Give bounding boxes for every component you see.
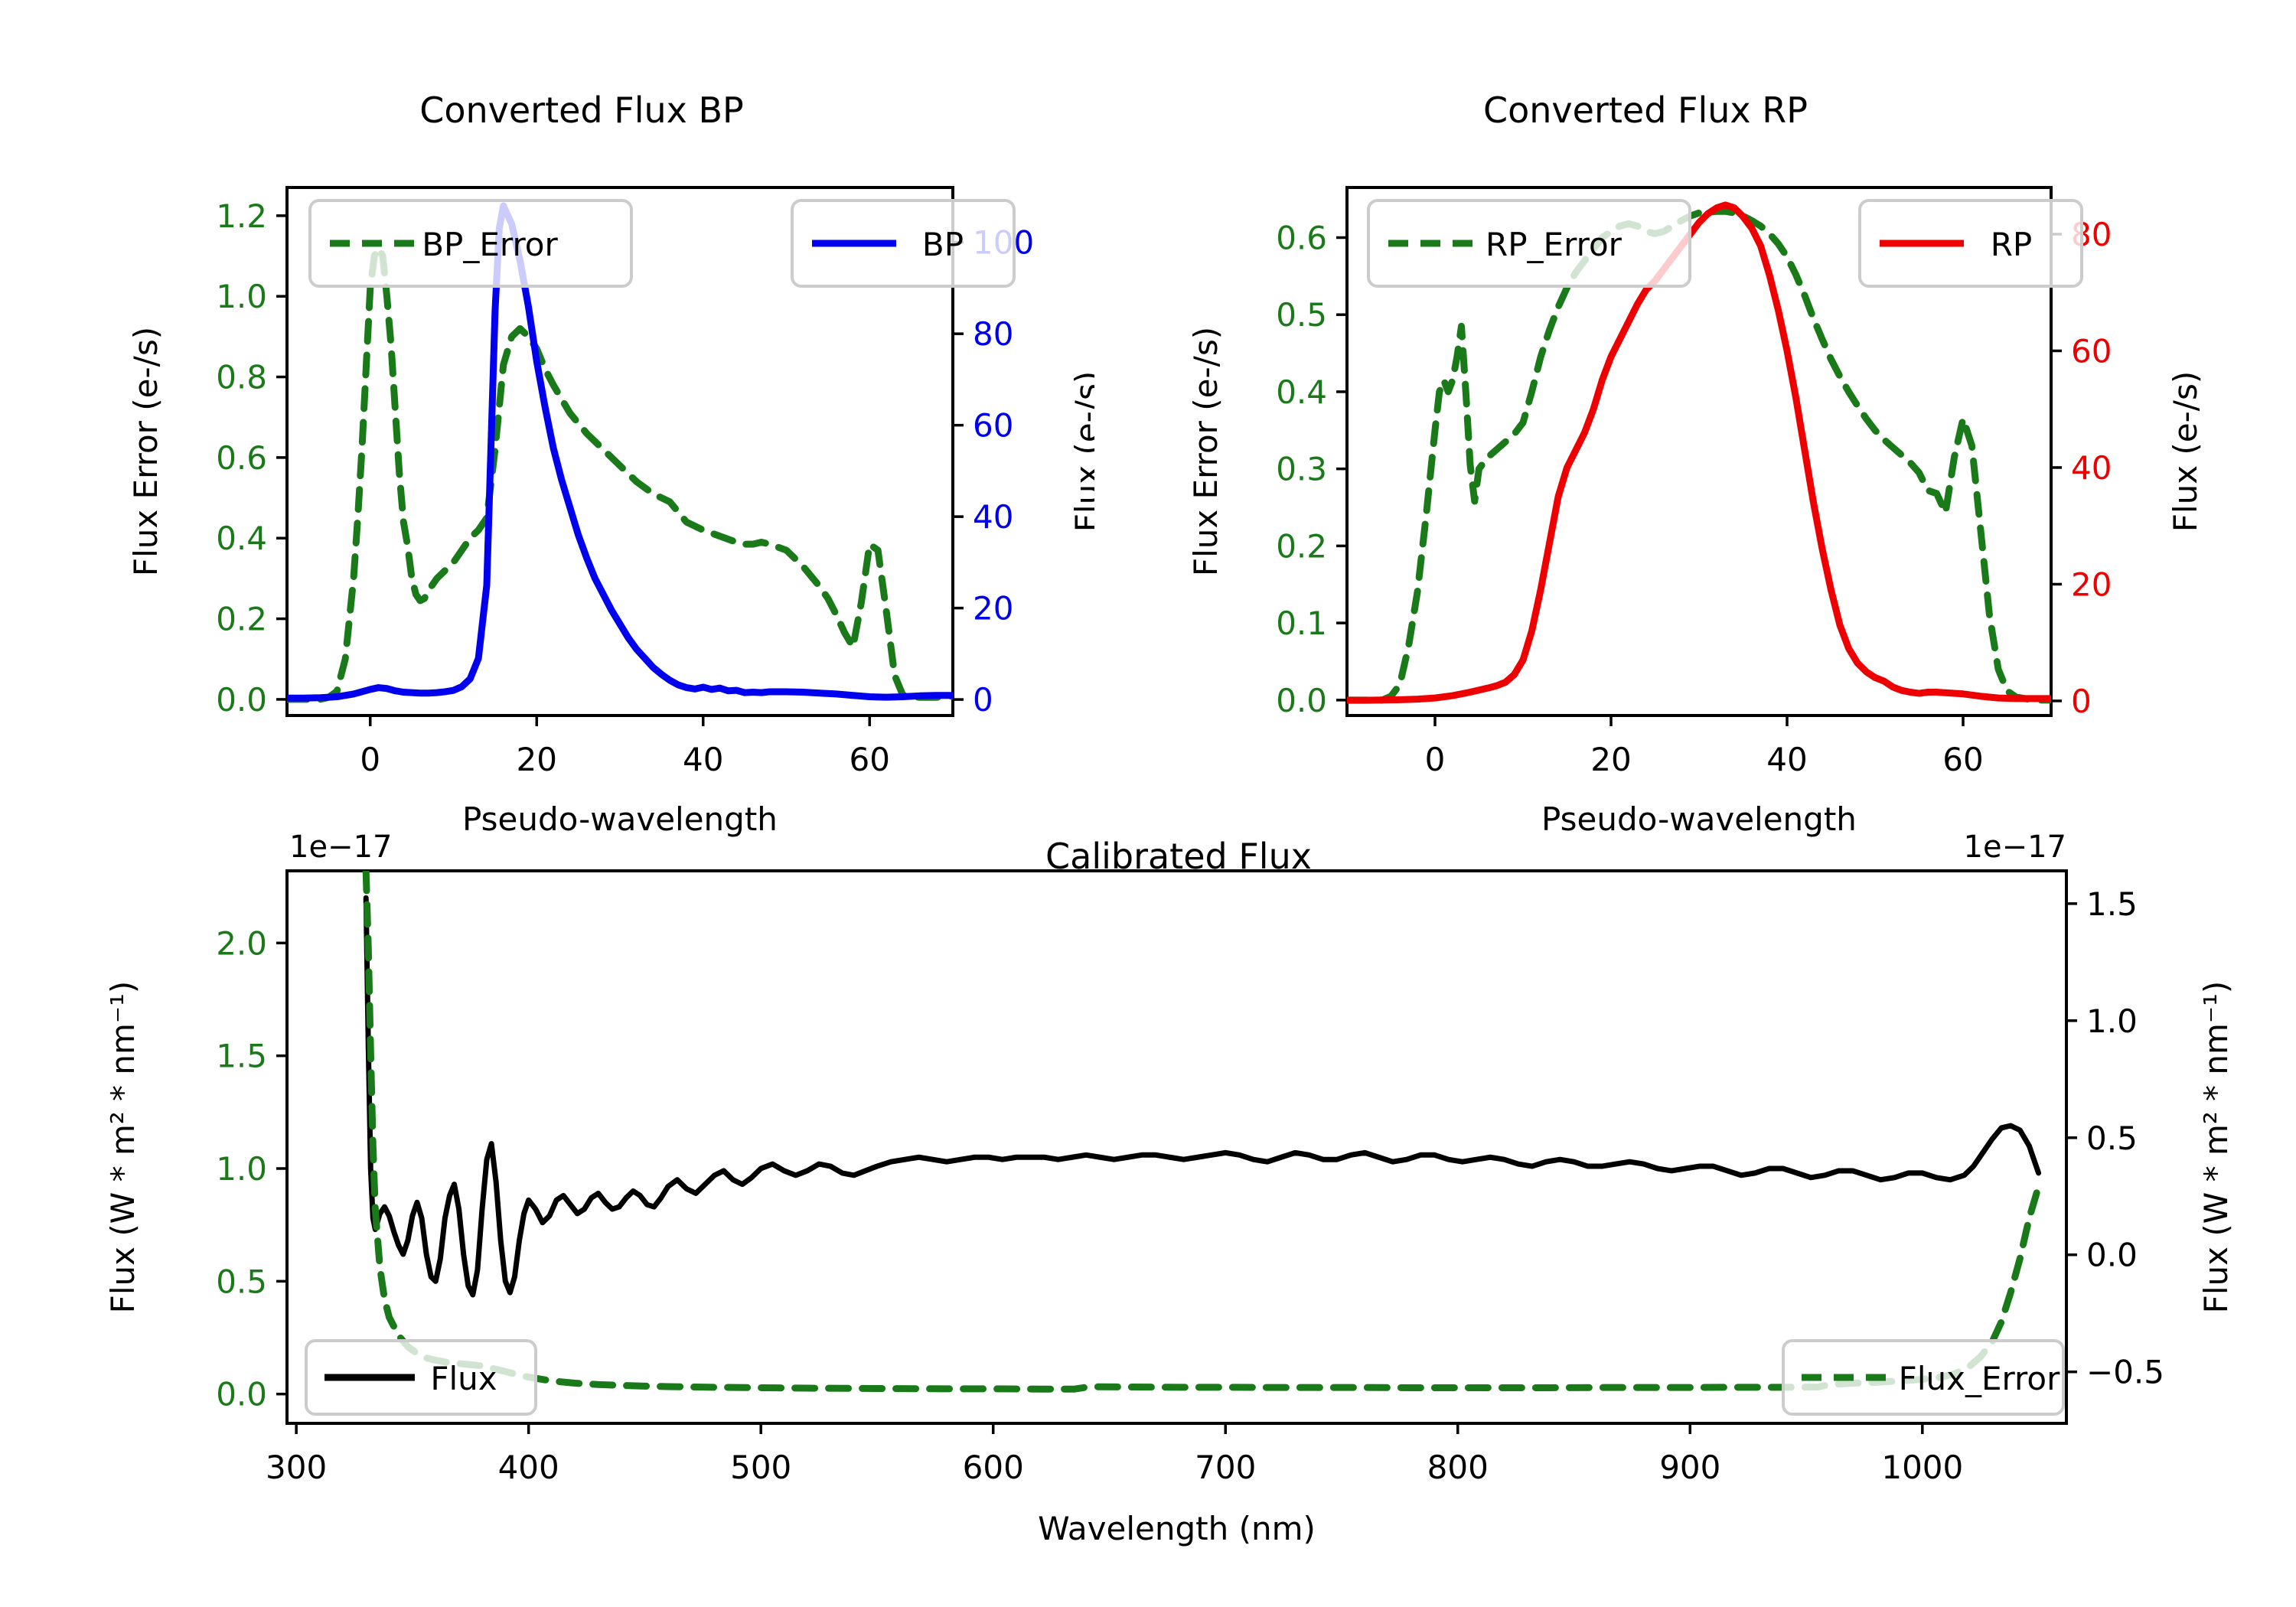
right-y-tick-label: 20: [973, 590, 1013, 627]
left-y-tick-label: 0.4: [216, 520, 267, 557]
left-y-tick-label: 0.3: [1276, 451, 1327, 488]
x-tick-label: 40: [683, 741, 723, 778]
x-tick-label: 700: [1195, 1449, 1256, 1486]
left-y-tick-label: 1.5: [216, 1038, 267, 1075]
left-y-tick-label: 0.5: [1276, 296, 1327, 334]
left-y-tick-label: 0.8: [216, 359, 267, 396]
legend-label: RP_Error: [1486, 226, 1623, 263]
left-y-tick-label: 1.0: [216, 278, 267, 315]
left-y-tick-label: 0.4: [1276, 373, 1327, 411]
x-tick-label: 1000: [1881, 1449, 1963, 1486]
right-axis-offset-exponent: 1e−17: [1964, 830, 2066, 865]
left-y-axis-label: Flux (W * m² * nm⁻¹): [104, 981, 142, 1314]
right-y-tick-label: 60: [973, 407, 1013, 445]
x-tick-label: 20: [517, 741, 557, 778]
right-y-tick-label: 0: [973, 681, 993, 719]
bp-panel-title: Converted Flux BP: [419, 90, 744, 131]
left-y-tick-label: 2.0: [216, 924, 267, 962]
left-y-tick-label: 0.6: [1276, 219, 1327, 256]
legend-flux-error[interactable]: Flux_Error: [1783, 1341, 2063, 1414]
legend-rp-error[interactable]: RP_Error: [1368, 200, 1690, 286]
left-y-tick-label: 0.5: [216, 1263, 267, 1300]
figure-root: Converted Flux BP 0204060Pseudo-waveleng…: [0, 0, 2296, 1607]
rp-panel-title: Converted Flux RP: [1483, 90, 1808, 131]
right-y-tick-label: 0.5: [2086, 1120, 2138, 1157]
legend-label: BP_Error: [422, 226, 558, 263]
right-y-axis-label: Flux (W * m² * nm⁻¹): [2197, 981, 2235, 1314]
right-y-tick-label: 60: [2071, 332, 2112, 370]
legend-label: Flux_Error: [1899, 1360, 2060, 1397]
right-y-tick-label: 1.0: [2086, 1002, 2138, 1040]
legend-label: RP: [1991, 226, 2033, 263]
legend-bp[interactable]: BP: [792, 200, 1014, 286]
x-tick-label: 400: [498, 1449, 559, 1486]
x-tick-label: 800: [1427, 1449, 1489, 1486]
legend-label: BP: [922, 226, 964, 263]
series-line-bp_error: [287, 248, 953, 699]
left-y-axis-label: Flux Error (e-/s): [1187, 327, 1225, 576]
legend-bp-error[interactable]: BP_Error: [310, 200, 631, 286]
panel-converted-flux-bp: Converted Flux BP 0204060Pseudo-waveleng…: [0, 31, 1094, 857]
legend-rp[interactable]: RP: [1860, 200, 2082, 286]
right-y-tick-label: 40: [2071, 449, 2112, 487]
x-tick-label: 20: [1590, 741, 1631, 778]
x-axis-label: Wavelength (nm): [1038, 1510, 1316, 1547]
left-y-axis-label: Flux Error (e-/s): [127, 327, 165, 576]
left-y-tick-label: 0.0: [216, 1376, 267, 1413]
right-y-axis-label: Flux (e-/s): [2167, 371, 2204, 532]
x-tick-label: 60: [850, 741, 890, 778]
left-y-tick-label: 0.1: [1276, 605, 1327, 642]
left-axis-offset-exponent: 1e−17: [289, 830, 392, 865]
x-tick-label: 600: [963, 1449, 1024, 1486]
right-y-axis-label: Flux (e-/s): [1068, 371, 1094, 532]
x-tick-label: 60: [1942, 741, 1983, 778]
x-tick-label: 300: [266, 1449, 327, 1486]
legend-label: Flux: [430, 1360, 497, 1397]
right-y-tick-label: −0.5: [2086, 1354, 2164, 1391]
x-tick-label: 0: [360, 741, 380, 778]
x-tick-label: 0: [1425, 741, 1446, 778]
left-y-tick-label: 0.2: [1276, 527, 1327, 565]
series-line-flux_error: [366, 871, 2038, 1389]
left-y-tick-label: 0.0: [1276, 682, 1327, 719]
right-y-tick-label: 0: [2071, 683, 2092, 720]
x-tick-label: 40: [1766, 741, 1807, 778]
x-tick-label: 500: [730, 1449, 791, 1486]
left-y-tick-label: 0.2: [216, 601, 267, 638]
right-y-tick-label: 1.5: [2086, 885, 2138, 923]
left-y-tick-label: 1.2: [216, 197, 267, 235]
series-line-flux: [366, 898, 2038, 1295]
x-tick-label: 900: [1659, 1449, 1720, 1486]
left-y-tick-label: 0.6: [216, 439, 267, 477]
panel-calibrated-flux: Calibrated Flux 1e−17 1e−17 300400500600…: [0, 826, 2296, 1607]
legend-flux[interactable]: Flux: [306, 1341, 536, 1414]
right-y-tick-label: 80: [973, 315, 1013, 353]
right-y-tick-label: 40: [973, 498, 1013, 536]
left-y-tick-label: 0.0: [216, 681, 267, 719]
right-y-tick-label: 0.0: [2086, 1237, 2138, 1274]
left-y-tick-label: 1.0: [216, 1150, 267, 1188]
panel-converted-flux-rp: Converted Flux RP 0204060Pseudo-waveleng…: [1094, 31, 2296, 857]
right-y-tick-label: 20: [2071, 566, 2112, 603]
